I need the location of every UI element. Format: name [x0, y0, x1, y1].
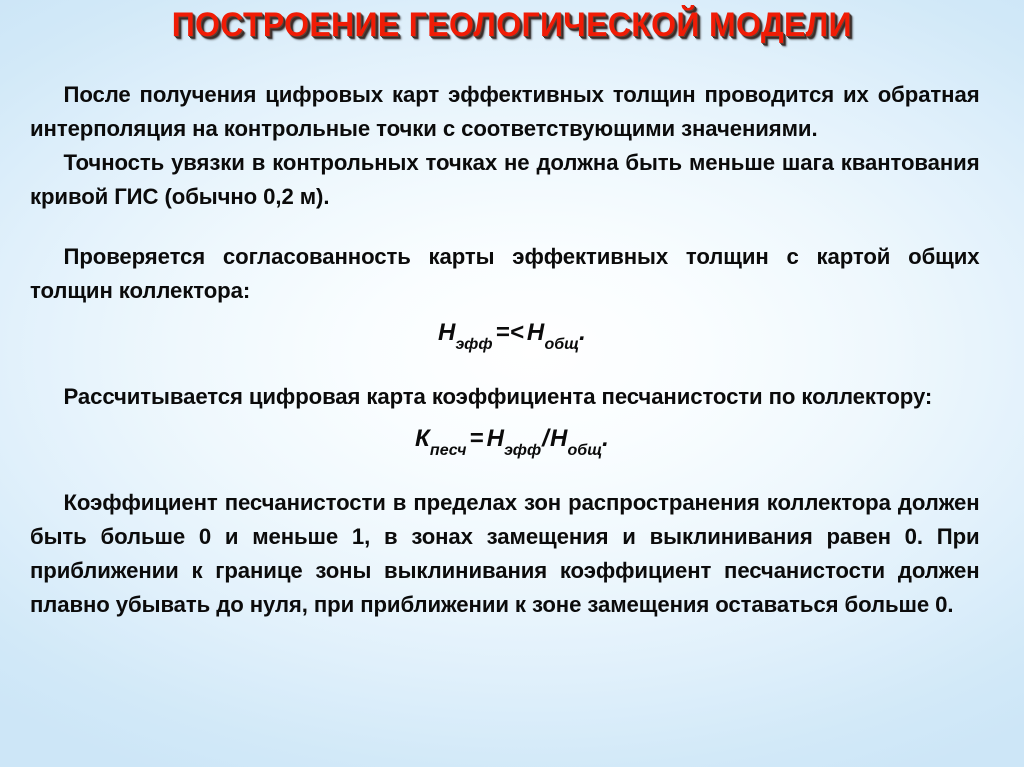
- paragraph-4: Рассчитывается цифровая карта коэффициен…: [30, 380, 980, 414]
- formula-1-base-2: Н: [527, 319, 545, 346]
- spacer-before-paragraph-5: [30, 456, 994, 486]
- page-title: ПОСТРОЕНИЕ ГЕОЛОГИЧЕСКОЙ МОДЕЛИ: [172, 4, 852, 46]
- formula-k-sand-ratio: Кпесч=Нэфф/Нобщ.: [415, 422, 609, 456]
- formula-2-base-3: Н: [550, 425, 568, 452]
- formula-2-operator: =: [466, 425, 486, 452]
- slide-body: После получения цифровых карт эффективны…: [30, 78, 994, 622]
- formula-2-base-1: К: [415, 425, 430, 452]
- spacer-before-formula-2: [30, 414, 994, 422]
- spacer-before-paragraph-3: [30, 214, 994, 240]
- formula-2-divider: /: [541, 425, 550, 452]
- spacer-before-formula-1: [30, 308, 994, 316]
- formula-1-subscript-2: общ: [544, 336, 579, 353]
- paragraph-2: Точность увязки в контрольных точках не …: [30, 146, 980, 214]
- spacer-before-paragraph-4: [30, 350, 994, 380]
- formula-2-trailing: .: [602, 425, 609, 452]
- formula-1-subscript-1: эфф: [456, 336, 493, 353]
- formula-2-subscript-2: эфф: [504, 442, 541, 459]
- formula-2-subscript-1: песч: [430, 442, 466, 459]
- formula-1-operator: =<: [492, 319, 526, 346]
- formula-1-row: Нэфф=<Нобщ.: [30, 316, 994, 350]
- slide-canvas: ПОСТРОЕНИЕ ГЕОЛОГИЧЕСКОЙ МОДЕЛИ После по…: [0, 0, 1024, 767]
- formula-2-base-2: Н: [487, 425, 505, 452]
- slide-title-container: ПОСТРОЕНИЕ ГЕОЛОГИЧЕСКОЙ МОДЕЛИ: [0, 4, 1024, 46]
- formula-h-eff-le-h-total: Нэфф=<Нобщ.: [438, 316, 586, 350]
- formula-1-base-1: Н: [438, 319, 456, 346]
- paragraph-5: Коэффициент песчанистости в пределах зон…: [30, 486, 980, 622]
- formula-1-trailing: .: [579, 319, 586, 346]
- formula-2-subscript-3: общ: [568, 442, 603, 459]
- paragraph-1: После получения цифровых карт эффективны…: [30, 78, 980, 146]
- paragraph-3: Проверяется согласованность карты эффект…: [30, 240, 980, 308]
- formula-2-row: Кпесч=Нэфф/Нобщ.: [30, 422, 994, 456]
